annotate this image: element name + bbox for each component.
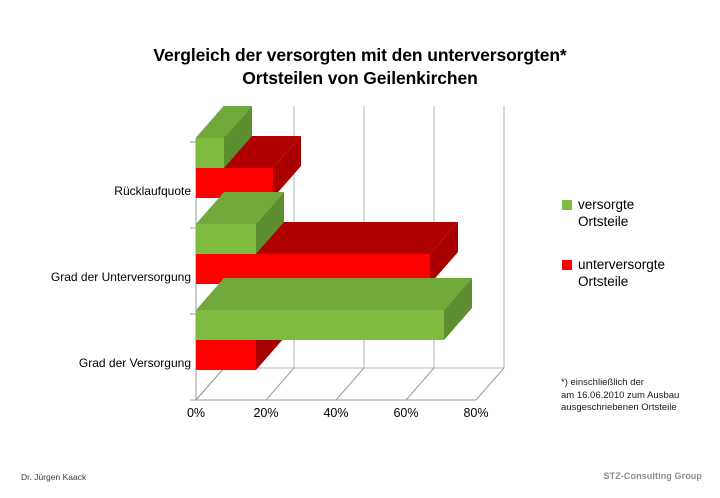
- title-line-1: Vergleich der versorgten mit den unterve…: [0, 44, 720, 67]
- x-tick-label-0: 0%: [170, 406, 222, 420]
- x-tick-label-60: 60%: [380, 406, 432, 420]
- chart-legend: versorgte Ortsteile unterversorgte Ortst…: [562, 196, 714, 316]
- footnote: *) einschließlich der am 16.06.2010 zum …: [561, 377, 719, 415]
- legend-label-unterversorgte-line1: unterversorgte: [578, 257, 665, 272]
- plot-area: 0% 20% 40% 60% 80% Rücklaufquote Grad de…: [0, 110, 545, 430]
- footer-author: Dr. Jürgen Kaack: [21, 472, 86, 482]
- legend-label-versorgte-line2: Ortsteile: [578, 213, 634, 230]
- legend-label-versorgte-line1: versorgte: [578, 197, 634, 212]
- legend-item-versorgte: versorgte Ortsteile: [562, 196, 714, 230]
- footnote-line-1: *) einschließlich der: [561, 377, 719, 390]
- legend-label-versorgte: versorgte Ortsteile: [578, 196, 634, 230]
- x-tick-label-80: 80%: [450, 406, 502, 420]
- title-line-2: Ortsteilen von Geilenkirchen: [0, 67, 720, 90]
- legend-item-unterversorgte: unterversorgte Ortsteile: [562, 256, 714, 290]
- bar-chart: 0% 20% 40% 60% 80% Rücklaufquote Grad de…: [0, 110, 545, 430]
- category-label-versorgung: Grad der Versorgung: [0, 356, 191, 370]
- footnote-line-2: am 16.06.2010 zum Ausbau: [561, 390, 719, 403]
- x-tick-label-40: 40%: [310, 406, 362, 420]
- category-label-unterversorgung: Grad der Unterversorgung: [0, 270, 191, 284]
- legend-swatch-red: [562, 260, 572, 270]
- x-tick-label-20: 20%: [240, 406, 292, 420]
- footnote-line-3: ausgeschriebenen Ortsteile: [561, 402, 719, 415]
- legend-label-unterversorgte: unterversorgte Ortsteile: [578, 256, 665, 290]
- footer-company: STZ-Consulting Group: [604, 471, 702, 481]
- legend-swatch-green: [562, 200, 572, 210]
- bar-versorgung-versorgte: [196, 278, 472, 340]
- category-label-ruecklaufquote: Rücklaufquote: [0, 184, 191, 198]
- page-title: Vergleich der versorgten mit den unterve…: [0, 44, 720, 90]
- legend-label-unterversorgte-line2: Ortsteile: [578, 273, 665, 290]
